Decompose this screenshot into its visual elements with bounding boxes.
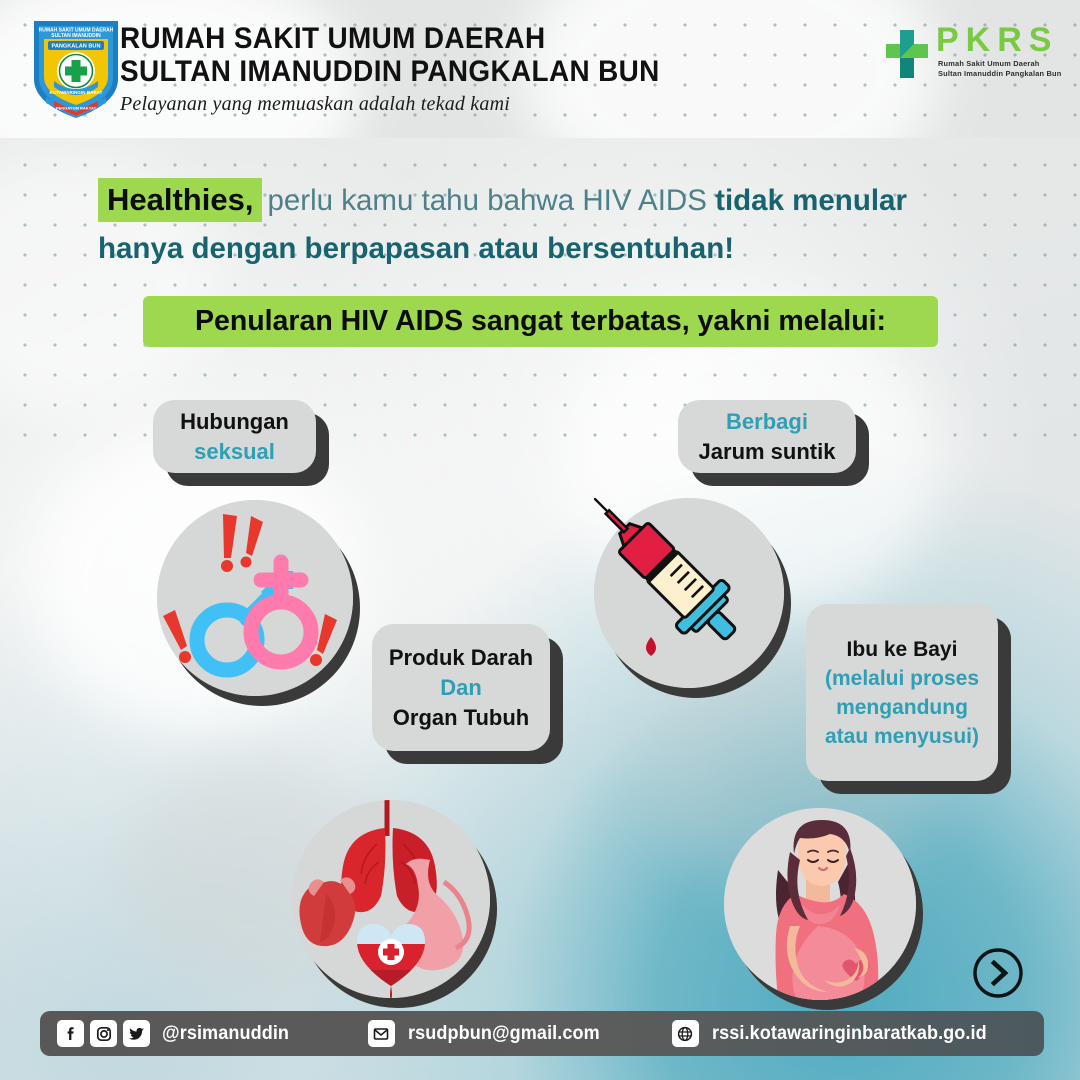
website-text: rssi.kotawaringinbaratkab.go.id (712, 1023, 987, 1045)
footer-email-group: rsudpbun@gmail.com (368, 1020, 610, 1047)
gender-symbols-icon (157, 500, 353, 696)
pkrs-cross-logo-icon (884, 24, 930, 89)
pkrs-subtitle-line-1: Rumah Sakit Umum Daerah (938, 59, 1061, 69)
footer-website-group: rssi.kotawaringinbaratkab.go.id (672, 1020, 1001, 1047)
headline-light-text: perlu kamu tahu bahwa HIV AIDS (267, 184, 706, 217)
card-mother-to-child[interactable]: Ibu ke Bayi (melalui proses mengandung a… (806, 604, 998, 781)
pregnant-woman-icon (724, 808, 916, 1000)
chevron-right-circle-icon[interactable] (972, 947, 1024, 999)
globe-icon[interactable] (672, 1020, 699, 1047)
card-sexual-line-2: seksual (194, 437, 275, 467)
email-text: rsudpbun@gmail.com (408, 1023, 600, 1045)
card-mother-line-1: Ibu ke Bayi (847, 635, 958, 664)
pkrs-wordmark: PKRS (936, 22, 1058, 58)
card-sexual-contact[interactable]: Hubungan seksual (153, 400, 316, 473)
hospital-crest-logo-icon: RUMAH SAKIT UMUM DAERAH SULTAN IMANUDDIN… (28, 17, 124, 121)
page-header: RUMAH SAKIT UMUM DAERAH SULTAN IMANUDDIN… (0, 0, 1080, 138)
sub-banner-text: Penularan HIV AIDS sangat terbatas, yakn… (195, 305, 886, 338)
footer-contact-bar: @rsimanuddin rsudpbun@gmail.com rssi.kot… (40, 1011, 1044, 1056)
footer-social-group: @rsimanuddin (57, 1020, 296, 1047)
svg-text:PANGKALAN BUN: PANGKALAN BUN (52, 44, 101, 50)
headline-highlight: Healthies, (98, 178, 262, 222)
card-mother-line-4: atau menyusui) (825, 722, 979, 751)
infographic-poster: RUMAH SAKIT UMUM DAERAH SULTAN IMANUDDIN… (0, 0, 1080, 1080)
svg-text:PENGAYOM RAKYAT: PENGAYOM RAKYAT (56, 106, 97, 111)
twitter-icon[interactable] (123, 1020, 150, 1047)
pkrs-logo: PKRS Rumah Sakit Umum Daerah Sultan Iman… (884, 22, 1052, 88)
headline-bold-text: tidak menular (715, 184, 907, 217)
pkrs-subtitle: Rumah Sakit Umum Daerah Sultan Imanuddin… (938, 59, 1061, 79)
instagram-icon[interactable] (90, 1020, 117, 1047)
social-handle-text: @rsimanuddin (162, 1023, 289, 1045)
sub-banner: Penularan HIV AIDS sangat terbatas, yakn… (143, 296, 938, 347)
syringe-icon (594, 498, 784, 688)
card-blood-organ[interactable]: Produk Darah Dan Organ Tubuh (372, 624, 550, 751)
card-mother-line-3: mengandung (836, 693, 968, 722)
org-line-2: SULTAN IMANUDDIN PANGKALAN BUN (120, 55, 660, 88)
card-needle-line-2: Jarum suntik (699, 437, 836, 467)
card-sexual-line-1: Hubungan (180, 407, 289, 437)
card-blood-line-1: Produk Darah (389, 643, 533, 673)
pkrs-subtitle-line-2: Sultan Imanuddin Pangkalan Bun (938, 69, 1061, 79)
card-blood-line-2: Dan (440, 673, 482, 703)
headline-line-2: hanya dengan berpapasan atau bersentuhan… (98, 225, 998, 273)
card-shared-needle[interactable]: Berbagi Jarum suntik (678, 400, 856, 473)
card-blood-line-3: Organ Tubuh (393, 703, 529, 733)
hospital-tagline: Pelayanan yang memuaskan adalah tekad ka… (120, 93, 700, 116)
organs-blood-donation-icon (292, 800, 490, 998)
headline-line-1: Healthies,perlu kamu tahu bahwa HIV AIDS… (98, 176, 998, 225)
org-line-1: RUMAH SAKIT UMUM DAERAH (120, 22, 660, 55)
headline-line-2-text: hanya dengan berpapasan atau bersentuhan… (98, 232, 734, 265)
facebook-icon[interactable] (57, 1020, 84, 1047)
svg-text:KOTAWARINGIN BARAT: KOTAWARINGIN BARAT (50, 90, 103, 95)
organization-name: RUMAH SAKIT UMUM DAERAH SULTAN IMANUDDIN… (120, 22, 700, 116)
email-icon[interactable] (368, 1020, 395, 1047)
card-needle-line-1: Berbagi (726, 407, 808, 437)
svg-text:SULTAN IMANUDDIN: SULTAN IMANUDDIN (51, 33, 101, 39)
headline-block: Healthies,perlu kamu tahu bahwa HIV AIDS… (98, 176, 998, 273)
card-mother-line-2: (melalui proses (825, 664, 979, 693)
